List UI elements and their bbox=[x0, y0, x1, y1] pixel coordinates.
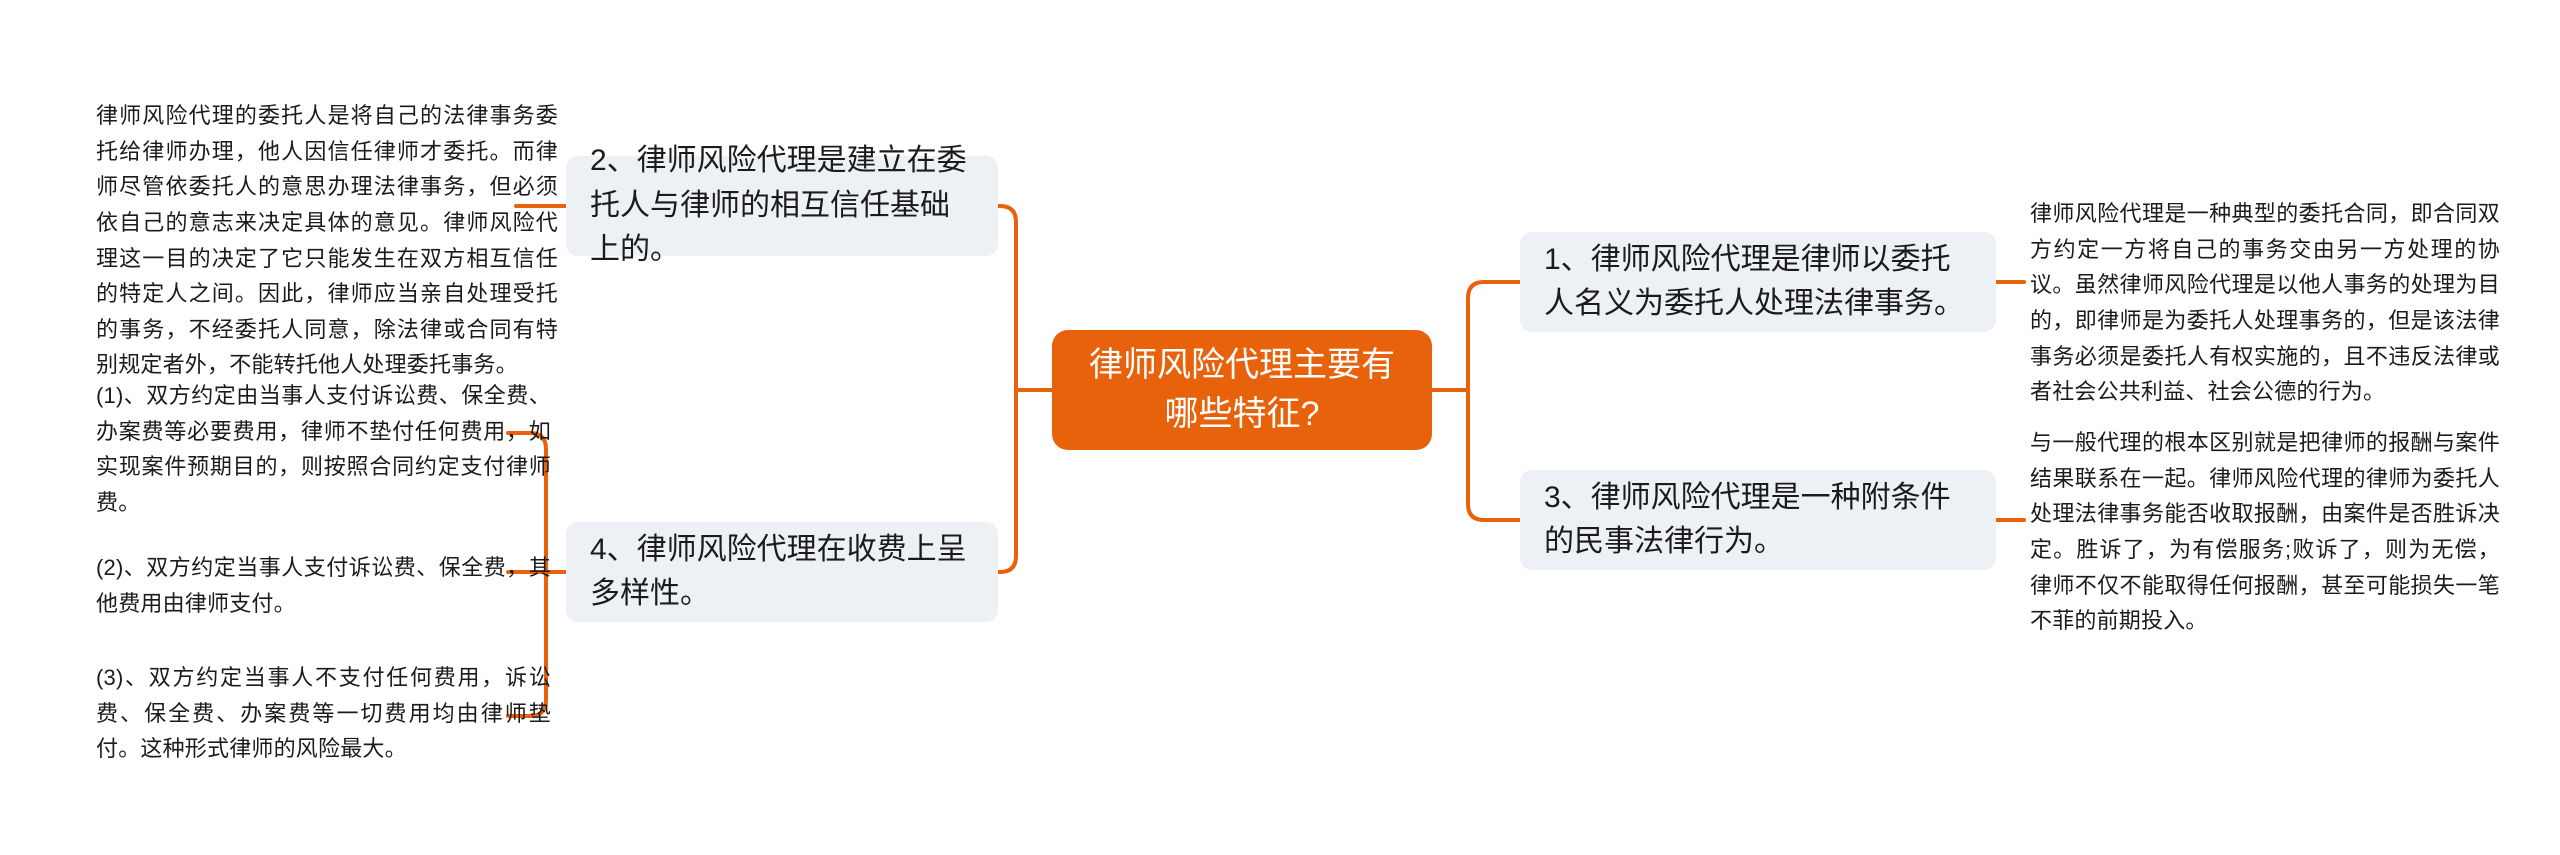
branch-node-2-label: 2、律师风险代理是建立在委托人与律师的相互信任基础上的。 bbox=[590, 139, 974, 272]
branch-node-3[interactable]: 3、律师风险代理是一种附条件的民事法律行为。 bbox=[1520, 470, 1996, 570]
connector-right-spine bbox=[1468, 282, 1520, 390]
leaf-text-branch-4-3: (3)、双方约定当事人不支付任何费用，诉讼费、保全费、办案费等一切费用均由律师垫… bbox=[96, 660, 551, 767]
leaf-text-branch-3: 与一般代理的根本区别就是把律师的报酬与案件结果联系在一起。律师风险代理的律师为委… bbox=[2030, 425, 2500, 639]
leaf-text-branch-1: 律师风险代理是一种典型的委托合同，即合同双方约定一方将自己的事务交由另一方处理的… bbox=[2030, 196, 2500, 410]
leaf-text-branch-4-2: (2)、双方约定当事人支付诉讼费、保全费，其他费用由律师支付。 bbox=[96, 550, 551, 621]
root-node[interactable]: 律师风险代理主要有哪些特征? bbox=[1052, 330, 1432, 450]
branch-node-1-label: 1、律师风险代理是律师以委托人名义为委托人处理法律事务。 bbox=[1544, 238, 1972, 327]
branch-node-2[interactable]: 2、律师风险代理是建立在委托人与律师的相互信任基础上的。 bbox=[566, 156, 998, 256]
mindmap-canvas: 律师风险代理主要有哪些特征? 1、律师风险代理是律师以委托人名义为委托人处理法律… bbox=[0, 0, 2560, 855]
branch-node-4[interactable]: 4、律师风险代理在收费上呈多样性。 bbox=[566, 522, 998, 622]
branch-node-4-label: 4、律师风险代理在收费上呈多样性。 bbox=[590, 528, 974, 617]
connector-right-spine-2 bbox=[1468, 390, 1520, 520]
branch-node-3-label: 3、律师风险代理是一种附条件的民事法律行为。 bbox=[1544, 476, 1972, 565]
branch-node-1[interactable]: 1、律师风险代理是律师以委托人名义为委托人处理法律事务。 bbox=[1520, 232, 1996, 332]
leaf-text-branch-2: 律师风险代理的委托人是将自己的法律事务委托给律师办理，他人因信任律师才委托。而律… bbox=[96, 98, 558, 383]
root-node-label: 律师风险代理主要有哪些特征? bbox=[1074, 341, 1410, 440]
leaf-text-branch-4-1: (1)、双方约定由当事人支付诉讼费、保全费、办案费等必要费用，律师不垫付任何费用… bbox=[96, 378, 551, 521]
